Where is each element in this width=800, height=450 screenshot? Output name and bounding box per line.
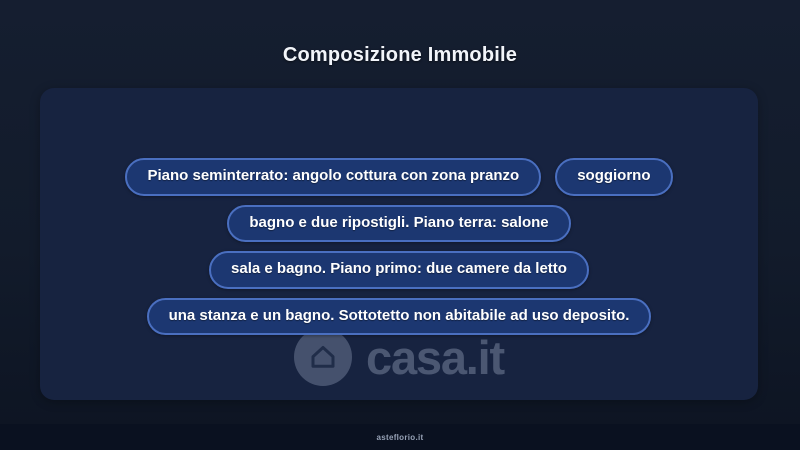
footer-source-label: asteflorio.it — [376, 433, 423, 442]
page-title: Composizione Immobile — [0, 44, 800, 67]
composition-card: casa.it Piano seminterrato: angolo cottu… — [40, 88, 758, 400]
composition-pill[interactable]: bagno e due ripostigli. Piano terra: sal… — [227, 205, 570, 243]
composition-pill[interactable]: Piano seminterrato: angolo cottura con z… — [125, 158, 541, 196]
pill-row: Piano seminterrato: angolo cottura con z… — [40, 158, 758, 196]
watermark-brand-text: casa.it — [366, 334, 504, 381]
composition-pill[interactable]: soggiorno — [555, 158, 672, 196]
pill-row: sala e bagno. Piano primo: due camere da… — [40, 251, 758, 289]
composition-pill[interactable]: una stanza e un bagno. Sottotetto non ab… — [147, 298, 652, 336]
house-icon — [294, 328, 352, 386]
page-root: Composizione Immobile casa.it Piano semi… — [0, 0, 800, 450]
pill-rows-container: Piano seminterrato: angolo cottura con z… — [40, 158, 758, 335]
footer-bar: asteflorio.it — [0, 424, 800, 450]
pill-row: bagno e due ripostigli. Piano terra: sal… — [40, 205, 758, 243]
pill-row: una stanza e un bagno. Sottotetto non ab… — [40, 298, 758, 336]
composition-pill[interactable]: sala e bagno. Piano primo: due camere da… — [209, 251, 589, 289]
